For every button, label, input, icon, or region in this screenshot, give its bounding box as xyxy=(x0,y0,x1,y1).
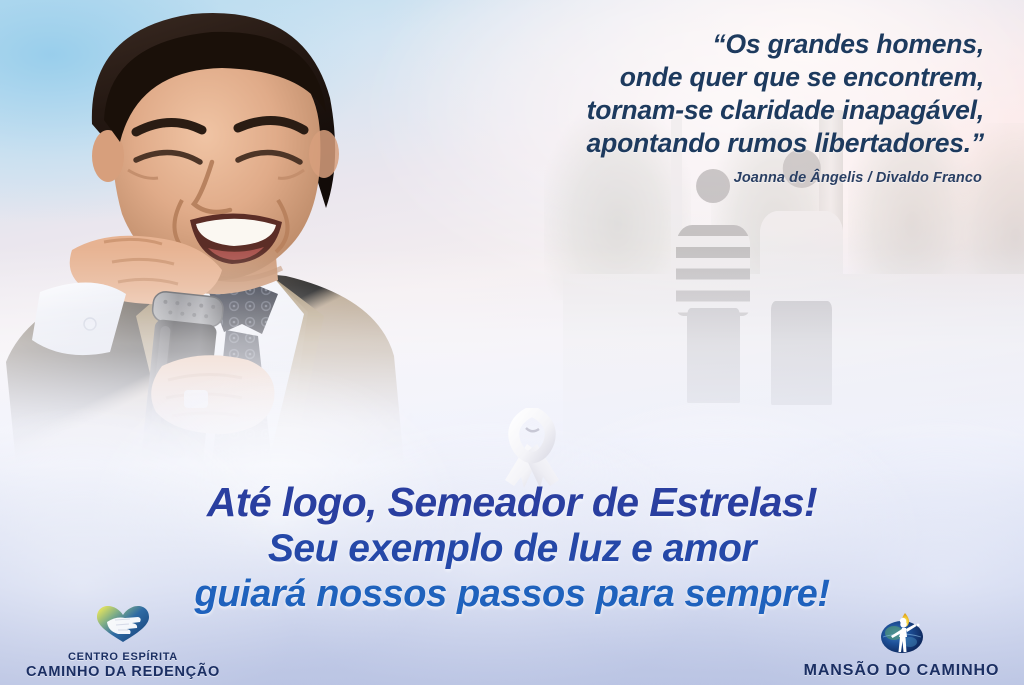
logo-left-line-1: CENTRO ESPÍRITA xyxy=(8,651,238,664)
quote-attribution: Joanna de Ângelis / Divaldo Franco xyxy=(382,170,982,186)
quote-text: “Os grandes homens, onde quer que se enc… xyxy=(384,28,984,160)
heart-hand-svg xyxy=(94,604,152,644)
mourning-ribbon-icon xyxy=(496,408,568,490)
quote-line-4: apontando rumos libertadores.” xyxy=(587,128,984,158)
logo-centro-espirita: CENTRO ESPÍRITA CAMINHO DA REDENÇÃO xyxy=(8,604,238,681)
logo-left-line-2: CAMINHO DA REDENÇÃO xyxy=(8,664,238,681)
scene-person-legs xyxy=(687,308,740,403)
scene-person-torso xyxy=(676,225,750,316)
logo-mansao-do-caminho: MANSÃO DO CAMINHO xyxy=(789,611,1014,681)
quote-line-3: tornam-se claridade inapagável, xyxy=(587,95,984,125)
portrait-photo xyxy=(0,0,416,464)
quote-line-1: “Os grandes homens, xyxy=(712,29,984,59)
globe-figure-flame-icon xyxy=(789,611,1014,660)
quote-line-2: onde quer que se encontrem, xyxy=(620,62,984,92)
scene-person-legs xyxy=(771,301,831,405)
heart-hand-icon xyxy=(8,604,238,649)
logo-right-line-2: MANSÃO DO CAMINHO xyxy=(789,662,1014,681)
headline-block: Até logo, Semeador de Estrelas! Seu exem… xyxy=(0,482,1024,613)
mourning-ribbon-svg xyxy=(496,408,568,490)
portrait-illustration xyxy=(0,0,416,464)
globe-figure-flame-svg xyxy=(874,611,930,655)
headline-line-2: Seu exemplo de luz e amor xyxy=(0,529,1024,568)
memorial-poster: “Os grandes homens, onde quer que se enc… xyxy=(0,0,1024,685)
headline-line-1: Até logo, Semeador de Estrelas! xyxy=(0,482,1024,523)
scene-person xyxy=(676,169,750,386)
scene-person-torso xyxy=(760,211,844,310)
